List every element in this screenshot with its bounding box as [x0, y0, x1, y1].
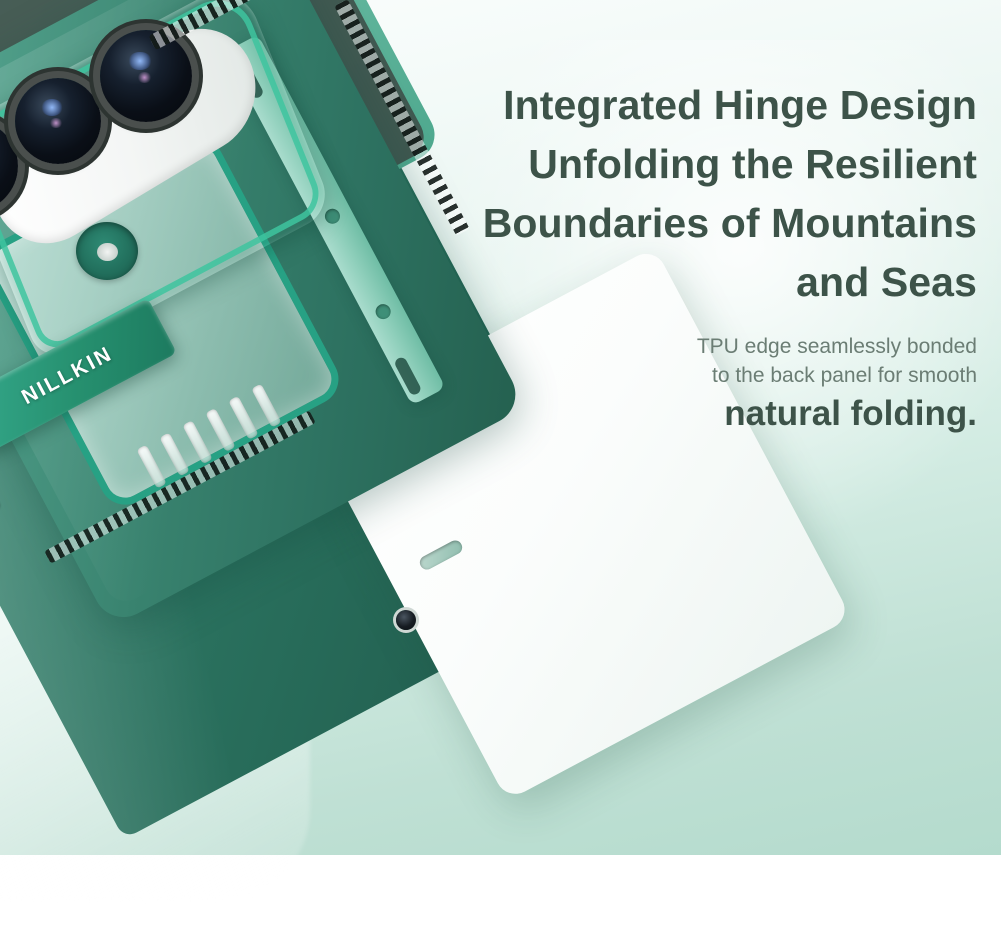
camera-flash-icon — [76, 222, 138, 280]
subtitle: TPU edge seamlessly bonded to the back p… — [417, 332, 977, 436]
rail-button-cutout-2 — [373, 301, 393, 321]
front-camera-icon — [396, 610, 416, 630]
subtitle-emphasis: natural folding. — [417, 392, 977, 436]
rail-button-cutout-1 — [322, 206, 342, 226]
camera-lens-icon-2 — [15, 78, 101, 164]
headline-line-4: and Seas — [796, 259, 977, 305]
product-banner: NILLKIN Integrated Hinge Design Unfoldin… — [0, 0, 1001, 935]
subtitle-line-1: TPU edge seamlessly bonded — [417, 332, 977, 361]
headline-line-2: Unfolding the Resilient — [528, 141, 977, 187]
headline-line-1: Integrated Hinge Design — [503, 82, 977, 128]
subtitle-line-2: to the back panel for smooth — [417, 361, 977, 390]
headline: Integrated Hinge Design Unfolding the Re… — [417, 76, 977, 312]
headline-line-3: Boundaries of Mountains — [483, 200, 977, 246]
camera-lens-icon-3 — [100, 30, 192, 122]
copy-block: Integrated Hinge Design Unfolding the Re… — [417, 76, 977, 436]
